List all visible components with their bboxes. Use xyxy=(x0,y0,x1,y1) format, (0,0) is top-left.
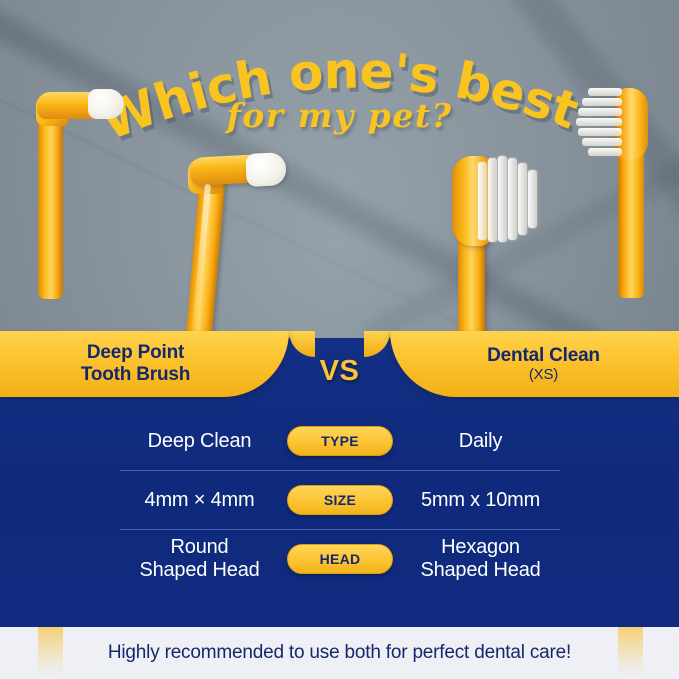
row-left-value: 4mm × 4mm xyxy=(120,489,279,512)
row-right-value-line2: Shaped Head xyxy=(401,559,560,582)
brush-handle-shape xyxy=(38,114,63,299)
row-left-value: Deep Clean xyxy=(120,430,279,453)
brush-handle-overlay-right xyxy=(618,627,643,679)
product-comparison-infographic: Which one's best Which one's best for my… xyxy=(0,0,679,679)
brush-bristles-shape xyxy=(478,154,540,246)
row-left-value: Round Shaped Head xyxy=(120,536,279,582)
dental-clean-brush-inline-image xyxy=(560,80,670,295)
row-right-value: Hexagon Shaped Head xyxy=(401,536,560,582)
brush-white-tip-shape xyxy=(245,152,287,187)
footer-banner: Highly recommended to use both for perfe… xyxy=(0,627,679,679)
brush-white-tip-shape xyxy=(88,89,124,119)
row-right-value: 5mm x 10mm xyxy=(401,489,560,512)
row-left-value-line2: Shaped Head xyxy=(120,559,279,582)
row-badge-size: SIZE xyxy=(287,485,393,515)
row-right-value-line1: Hexagon xyxy=(401,536,560,559)
brush-handle-overlay-left xyxy=(38,627,63,679)
row-badge-type: TYPE xyxy=(287,426,393,456)
row-badge-head: HEAD xyxy=(287,544,393,574)
dental-clean-brush-image xyxy=(440,148,570,348)
table-row: Deep Clean TYPE Daily xyxy=(120,412,560,470)
deep-point-brush-inline-image xyxy=(24,80,134,295)
footer-text: Highly recommended to use both for perfe… xyxy=(108,642,571,664)
comparison-table: Deep Clean TYPE Daily 4mm × 4mm SIZE 5mm… xyxy=(120,412,560,588)
table-row: Round Shaped Head HEAD Hexagon Shaped He… xyxy=(120,529,560,588)
row-right-value: Daily xyxy=(401,430,560,453)
table-row: 4mm × 4mm SIZE 5mm x 10mm xyxy=(120,470,560,529)
row-left-value-line1: Round xyxy=(120,536,279,559)
deep-point-brush-image xyxy=(168,148,288,348)
brush-bristles-shape xyxy=(574,88,622,162)
versus-label: VS xyxy=(0,355,679,388)
brush-handle-shape xyxy=(618,146,644,298)
